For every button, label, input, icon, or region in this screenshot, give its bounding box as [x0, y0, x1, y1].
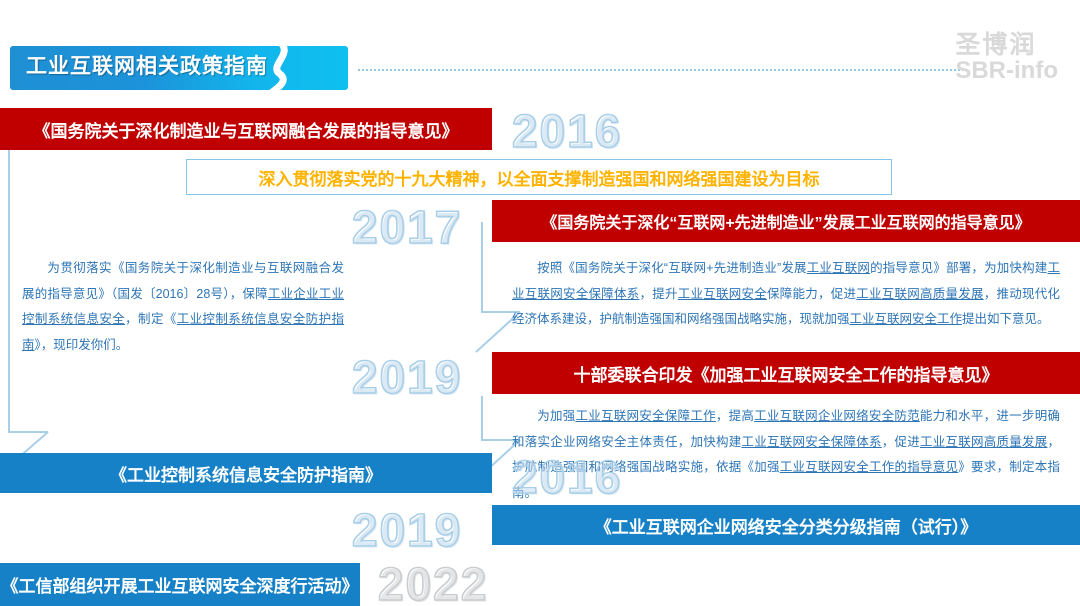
para-right-1-seg-9: 工业互联网高质量发展 — [856, 287, 983, 301]
policy-bar-blue-2-label: 《工业互联网企业网络安全分类分级指南（试行）》 — [595, 513, 978, 538]
para-right-2-seg-8: ，促进 — [882, 435, 920, 449]
header-dotted-rule — [358, 69, 968, 71]
year-label-2016-a: 2016 — [512, 104, 622, 158]
para-left-1-seg-6: 工业控制系统信息 — [177, 312, 280, 326]
para-left-1-seg-5: ，制定《 — [125, 312, 177, 326]
year-label-2016-b: 2016 — [512, 450, 622, 504]
policy-bar-red-2[interactable]: 《国务院关于深化“互联网+先进制造业”发展工业互联网的指导意见》 — [492, 200, 1080, 242]
para-left-1-seg-8: 》，现印发你们。 — [35, 338, 129, 352]
policy-bar-red-2-label: 《国务院关于深化“互联网+先进制造业”发展工业互联网的指导意见》 — [541, 209, 1030, 233]
year-label-2019-b: 2019 — [352, 503, 462, 557]
policy-bar-blue-3-label: 《工信部组织开展工业互联网安全深度行活动》 — [2, 572, 359, 597]
page-title: 工业互联网相关政策指南 — [26, 50, 268, 80]
para-right-1-seg-1: 按照《国务院关于深化“互联网+先进制造业”发展 — [537, 261, 807, 275]
para-right-2-seg-1: 为加强 — [537, 409, 576, 423]
policy-bar-red-3-label: 十部委联合印发《加强工业互联网安全工作的指导意见》 — [574, 361, 999, 386]
para-left-1-seg-3: 工业 — [268, 287, 293, 301]
para-right-2-seg-6: 工业互联 — [741, 435, 792, 449]
year-label-2017: 2017 — [352, 200, 462, 254]
policy-bar-red-1-label: 《国务院关于深化制造业与互联网融合发展的指导意见》 — [34, 117, 459, 142]
logo-chinese: 圣博润 — [955, 32, 1058, 58]
paragraph-right-1: 按照《国务院关于深化“互联网+先进制造业”发展工业互联网的指导意见》部署，为加快… — [512, 256, 1060, 333]
para-right-2-seg-3: ，提高 — [716, 409, 754, 423]
highlight-callout-label: 深入贯彻落实党的十九大精神，以全面支撑制造强国和网络强国建设为目标 — [259, 165, 820, 190]
para-right-2-seg-9: 工业互联网高质量发展 — [920, 435, 1047, 449]
para-right-1-seg-7: 工业互联网安全 — [678, 287, 767, 301]
brand-logo: 圣博润 SBR-info — [955, 32, 1058, 83]
para-right-2-seg-11: 略实施，依据《加强 — [665, 460, 780, 474]
para-right-1-seg-6: ，提升 — [639, 287, 677, 301]
paragraph-left-1: 为贯彻落实《国务院关于深化制造业与互联网融合发展的指导意见》（国发〔2016〕2… — [22, 256, 344, 359]
para-right-2-seg-7: 网安全保障体系 — [792, 435, 881, 449]
para-right-1-seg-13: 提出如下意见。 — [962, 312, 1050, 326]
policy-bar-blue-1-label: 《工业控制系统信息安全防护指南》 — [110, 461, 382, 486]
policy-bar-blue-2[interactable]: 《工业互联网企业网络安全分类分级指南（试行）》 — [492, 505, 1080, 545]
logo-latin: SBR-info — [955, 58, 1058, 83]
highlight-callout: 深入贯彻落实党的十九大精神，以全面支撑制造强国和网络强国建设为目标 — [186, 159, 892, 195]
para-right-1-seg-2: 工业互联网 — [807, 261, 870, 275]
policy-bar-blue-1[interactable]: 《工业控制系统信息安全防护指南》 — [0, 453, 492, 493]
policy-bar-red-1[interactable]: 《国务院关于深化制造业与互联网融合发展的指导意见》 — [0, 108, 492, 150]
policy-bar-blue-3[interactable]: 《工信部组织开展工业互联网安全深度行活动》 — [0, 563, 360, 606]
policy-bar-red-3[interactable]: 十部委联合印发《加强工业互联网安全工作的指导意见》 — [492, 352, 1080, 394]
year-label-2022: 2022 — [378, 557, 488, 606]
para-right-2-seg-12: 工业互联网安全工作的指导意见 — [780, 460, 958, 474]
para-right-1-seg-4: 导意见》部署，为加快构建 — [895, 261, 1047, 275]
para-left-1-seg-1: 为贯彻落实《国务院关于深化制造业与互联网融 — [47, 261, 319, 275]
para-right-2-seg-4: 工业互联网企业网络安全防范 — [754, 409, 920, 423]
para-right-2-seg-2: 工业互联网安全保障工作 — [576, 409, 716, 423]
year-label-2019-a: 2019 — [352, 350, 462, 404]
para-right-1-seg-8: 保障能力，促进 — [767, 287, 856, 301]
para-right-1-seg-3: 的指 — [870, 261, 895, 275]
para-right-1-seg-11: 造强国和网络强国战略实施，现就加强 — [637, 312, 850, 326]
para-right-1-seg-12: 工业互联网安全工作 — [850, 312, 963, 326]
slide-root: 工业互联网相关政策指南 圣博润 SBR-info 《国务院关于深化制造业与互联网… — [0, 0, 1080, 606]
